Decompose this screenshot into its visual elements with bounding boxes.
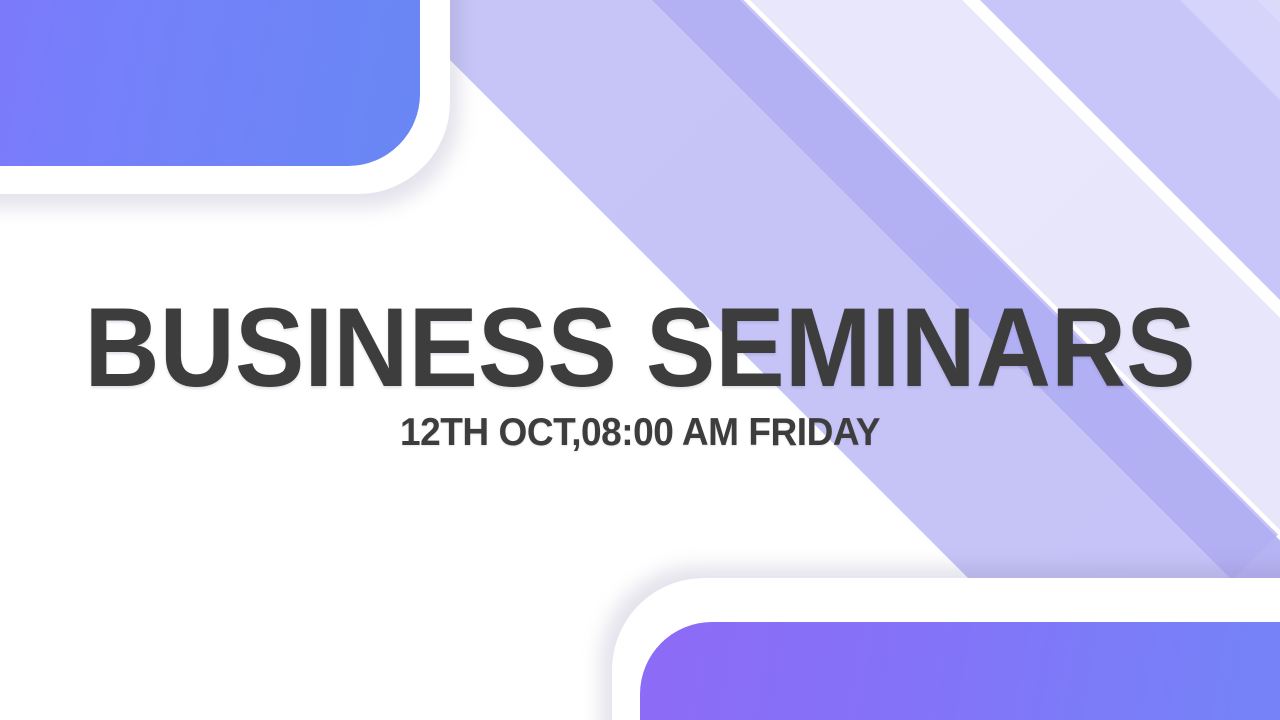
bottom-right-gradient-panel <box>640 622 1280 720</box>
event-title: BUSINESS SEMINARS <box>45 296 1235 399</box>
poster-canvas: BUSINESS SEMINARS 12TH OCT,08:00 AM FRID… <box>0 0 1280 720</box>
top-left-gradient-panel <box>0 0 420 166</box>
headline-block: BUSINESS SEMINARS 12TH OCT,08:00 AM FRID… <box>0 296 1280 452</box>
event-datetime: 12TH OCT,08:00 AM FRIDAY <box>32 413 1248 452</box>
